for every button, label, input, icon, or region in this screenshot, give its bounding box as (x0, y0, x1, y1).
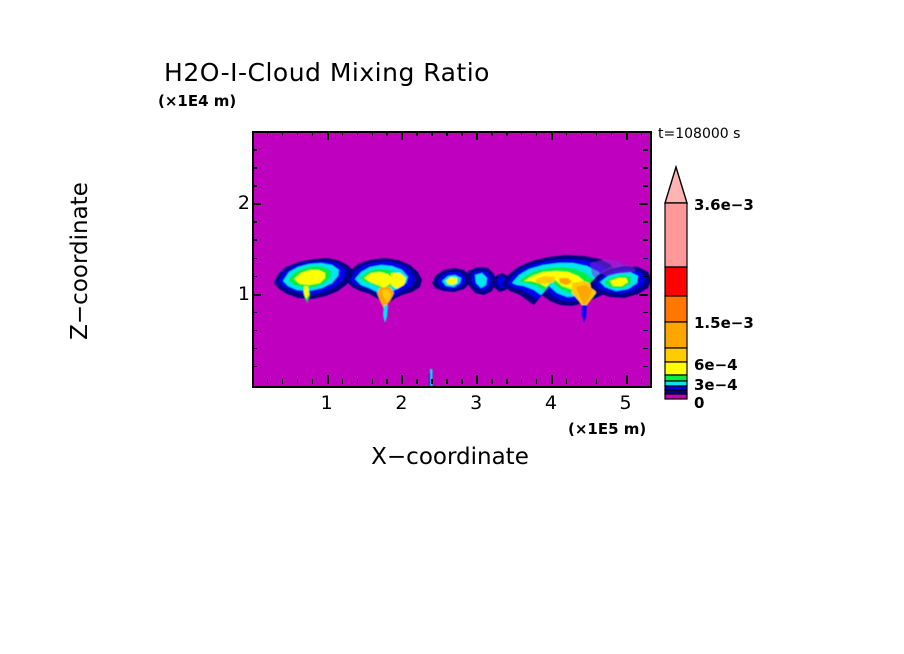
x-tick-label: 3 (470, 392, 482, 414)
tick-mark (641, 379, 643, 384)
tick-mark (342, 379, 344, 384)
tick-mark (476, 375, 478, 384)
tick-mark (386, 379, 388, 384)
tick-mark (252, 149, 257, 151)
tick-mark (506, 131, 508, 136)
tick-mark (327, 375, 329, 384)
tick-mark (252, 239, 257, 241)
x-tick-label: 5 (620, 392, 632, 414)
page-title: H2O-I-Cloud Mixing Ratio (0, 58, 904, 87)
tick-mark (491, 131, 493, 136)
tick-mark (312, 379, 314, 384)
x-axis-title: X−coordinate (252, 444, 648, 470)
tick-mark (551, 375, 553, 384)
tick-mark (282, 379, 284, 384)
tick-mark (282, 131, 284, 136)
tick-mark (357, 131, 359, 136)
tick-mark (312, 131, 314, 136)
tick-mark (461, 379, 463, 384)
tick-mark (461, 131, 463, 136)
axis-ticks (252, 131, 648, 384)
tick-mark (626, 375, 628, 384)
tick-mark (581, 131, 583, 136)
tick-mark (521, 131, 523, 136)
tick-mark (267, 379, 269, 384)
tick-mark (342, 131, 344, 136)
tick-mark (327, 131, 329, 140)
tick-mark (491, 379, 493, 384)
tick-mark (476, 131, 478, 140)
tick-mark (416, 131, 418, 136)
tick-mark (297, 379, 299, 384)
tick-mark (643, 258, 648, 260)
tick-mark (643, 366, 648, 368)
colorbar: 3.6e−3 1.5e−3 6e−4 3e−4 0 (664, 165, 864, 400)
tick-mark (596, 131, 598, 136)
x-axis-tick-labels: 12345 (252, 392, 648, 416)
tick-mark (551, 131, 553, 140)
y-axis-tick-labels: 12 (210, 131, 250, 384)
tick-mark (643, 167, 648, 169)
tick-mark (252, 203, 261, 205)
x-unit-label: (×1E5 m) (568, 420, 646, 438)
tick-mark (626, 131, 628, 140)
tick-mark (536, 131, 538, 136)
tick-mark (252, 167, 257, 169)
tick-mark (643, 239, 648, 241)
tick-mark (611, 131, 613, 136)
y-tick-label: 1 (238, 283, 250, 305)
tick-mark (401, 131, 403, 140)
tick-mark (401, 375, 403, 384)
time-annotation: t=108000 s (658, 126, 740, 142)
x-tick-label: 4 (545, 392, 557, 414)
x-tick-label: 2 (395, 392, 407, 414)
x-tick-label: 1 (321, 392, 333, 414)
tick-mark (446, 131, 448, 136)
tick-mark (536, 379, 538, 384)
tick-mark (643, 276, 648, 278)
tick-mark (252, 294, 261, 296)
colorbar-label-3: 3e−4 (694, 376, 738, 394)
tick-mark (643, 149, 648, 151)
tick-mark (252, 348, 257, 350)
tick-mark (521, 379, 523, 384)
tick-mark (643, 185, 648, 187)
y-axis-title: Z−coordinate (67, 111, 93, 411)
tick-mark (643, 221, 648, 223)
tick-mark (372, 131, 374, 136)
colorbar-label-1: 1.5e−3 (694, 314, 754, 332)
tick-mark (643, 348, 648, 350)
tick-mark (252, 185, 257, 187)
tick-mark (566, 379, 568, 384)
tick-mark (639, 294, 648, 296)
tick-mark (566, 131, 568, 136)
tick-mark (596, 379, 598, 384)
tick-mark (252, 330, 257, 332)
tick-mark (431, 131, 433, 136)
tick-mark (431, 379, 433, 384)
y-tick-label: 2 (238, 192, 250, 214)
tick-mark (643, 312, 648, 314)
tick-mark (252, 221, 257, 223)
tick-mark (357, 379, 359, 384)
colorbar-label-2: 6e−4 (694, 356, 738, 374)
tick-mark (506, 379, 508, 384)
tick-mark (372, 379, 374, 384)
tick-mark (386, 131, 388, 136)
tick-mark (416, 379, 418, 384)
tick-mark (297, 131, 299, 136)
tick-mark (252, 258, 257, 260)
colorbar-label-4: 0 (694, 394, 704, 412)
tick-mark (611, 379, 613, 384)
tick-mark (641, 131, 643, 136)
tick-mark (446, 379, 448, 384)
page-title-text: H2O-I-Cloud Mixing Ratio (164, 58, 740, 87)
tick-mark (581, 379, 583, 384)
tick-mark (252, 312, 257, 314)
tick-mark (252, 366, 257, 368)
y-unit-label: (×1E4 m) (158, 92, 236, 110)
tick-mark (267, 131, 269, 136)
tick-mark (639, 203, 648, 205)
tick-mark (643, 330, 648, 332)
tick-mark (252, 276, 257, 278)
colorbar-label-0: 3.6e−3 (694, 196, 754, 214)
